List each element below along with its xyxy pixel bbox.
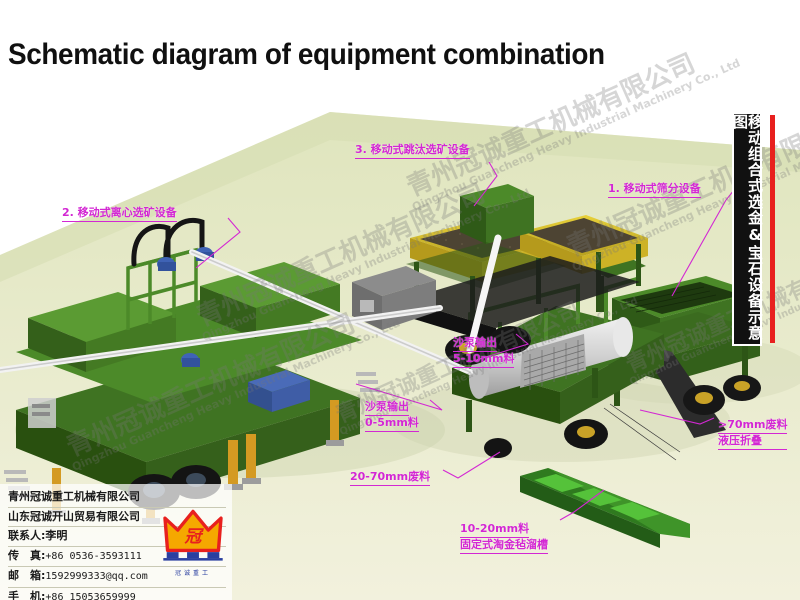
company-fax-label: 传 真: <box>8 549 45 562</box>
company-mobile: 手 机:+86 15053659999 <box>8 588 226 600</box>
callout-waste-20-70: 20-70mm废料 <box>350 470 430 486</box>
callout-1-screening: 1. 移动式筛分设备 <box>608 182 701 198</box>
schematic-page: 青州冠诚重工机械有限公司 Qingzhou Guancheng Heavy In… <box>0 0 800 600</box>
crown-icon: 冠 <box>158 508 228 564</box>
page-title: Schematic diagram of equipment combinati… <box>8 38 605 72</box>
company-mobile-label: 手 机: <box>8 590 45 600</box>
vertical-red-bar <box>770 115 775 343</box>
callout-2-centrifugal: 2. 移动式离心选矿设备 <box>62 206 177 222</box>
vertical-banner: 移动组合式选金&宝石设备示意图 <box>732 112 762 346</box>
callout-sand-pump-0-5: 沙泵输出 0-5mm料 <box>365 400 419 432</box>
callout-sand-pump-5-10: 沙泵输出 5-10mm料 <box>453 336 514 368</box>
company-email-label: 邮 箱: <box>8 569 45 582</box>
svg-text:冠: 冠 <box>184 526 205 546</box>
callout-3-jig: 3. 移动式跳汰选矿设备 <box>355 143 470 159</box>
company-fax-value: +86 0536-3593111 <box>45 551 141 562</box>
company-email-value: 1592999333@qq.com <box>45 571 147 582</box>
callout-waste-70plus: >70mm废料 液压折叠 <box>718 418 787 450</box>
callout-sluice-10-20: 10-20mm料 固定式淘金毡溜槽 <box>460 522 548 554</box>
company-mobile-value: +86 15053659999 <box>45 592 135 600</box>
company-name-1: 青州冠诚重工机械有限公司 <box>8 488 226 508</box>
logo-caption: 冠诚重工 <box>158 568 228 577</box>
company-logo: 冠 冠诚重工 <box>158 508 228 574</box>
